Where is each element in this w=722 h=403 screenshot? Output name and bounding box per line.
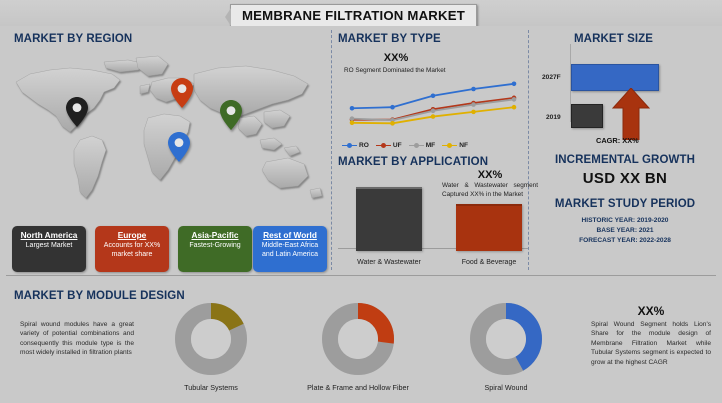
region-card-sub: Accounts for XX% market share — [95, 242, 169, 259]
legend-item-uf[interactable]: UF — [376, 142, 402, 149]
region-card-name: Europe — [95, 230, 169, 241]
application-section: MARKET BY APPLICATION XX% Water & Wastew… — [338, 156, 528, 268]
market-study-period-heading: MARKET STUDY PERIOD — [534, 198, 716, 210]
region-card-north-america[interactable]: North America Largest Market — [12, 226, 86, 272]
page-title: MEMBRANE FILTRATION MARKET — [230, 4, 477, 27]
legend-item-nf[interactable]: NF — [442, 142, 468, 149]
legend-item-ro[interactable]: RO — [342, 142, 369, 149]
market-size-label-2019: 2019 — [546, 114, 561, 121]
world-map — [8, 52, 330, 212]
region-card-name: Rest of World — [253, 230, 327, 241]
donut-plate-frame-hollow-fiber[interactable]: Plate & Frame and Hollow Fiber — [298, 302, 418, 392]
market-size-title: MARKET SIZE — [574, 33, 653, 45]
rest-of-world-pin[interactable] — [168, 132, 190, 162]
page-title-text: MEMBRANE FILTRATION MARKET — [242, 8, 465, 23]
divider-module-top — [6, 275, 716, 276]
application-bar-water-wastewater[interactable] — [356, 187, 422, 251]
body-area: MARKET BY REGION — [0, 26, 722, 403]
module-right-text: Spiral Wound Segment holds Lion's Share … — [591, 320, 711, 367]
region-card-rest-of-world[interactable]: Rest of World Middle-East Africa and Lat… — [253, 226, 327, 272]
region-card-asia-pacific[interactable]: Asia-Pacific Fastest-Growing — [178, 226, 252, 272]
market-size-section: MARKET SIZE 2027F 2019 CAGR: XX% INCREME… — [534, 30, 716, 270]
period-item-base: BASE YEAR: 2021 — [534, 226, 716, 236]
europe-pin[interactable] — [171, 78, 193, 108]
market-size-bar-2027[interactable] — [571, 64, 659, 91]
application-bar-label-water: Water & Wastewater — [334, 259, 444, 266]
cagr-label: CAGR: XX% — [596, 136, 639, 145]
legend-marker-icon — [342, 142, 357, 149]
asia-pacific-pin[interactable] — [220, 100, 242, 130]
donut-tubular-systems[interactable]: Tubular Systems — [151, 302, 271, 392]
region-card-sub: Middle-East Africa and Latin America — [253, 242, 327, 259]
type-section: MARKET BY TYPE XX% RO Segment Dominated … — [338, 30, 524, 154]
divider-right — [528, 30, 529, 270]
donut-label: Spiral Wound — [446, 383, 566, 392]
period-item-historic: HISTORIC YEAR: 2019-2020 — [534, 216, 716, 226]
divider-left — [331, 30, 332, 270]
legend-marker-icon — [409, 142, 424, 149]
module-design-section: MARKET BY MODULE DESIGN Spiral wound mod… — [6, 284, 716, 401]
donut-chart-svg — [321, 302, 395, 376]
module-section-title: MARKET BY MODULE DESIGN — [14, 290, 185, 302]
market-by-type-line-chart — [338, 32, 524, 144]
legend-label: UF — [393, 142, 402, 149]
region-card-europe[interactable]: Europe Accounts for XX% market share — [95, 226, 169, 272]
application-callout: XX% Water & Wastewater segment Captured … — [442, 169, 538, 200]
application-callout-pct: XX% — [442, 169, 538, 181]
period-item-forecast: FORECAST YEAR: 2022-2028 — [534, 236, 716, 246]
module-right-callout: XX% Spiral Wound Segment holds Lion's Sh… — [591, 304, 711, 367]
region-section-title: MARKET BY REGION — [14, 33, 132, 45]
region-card-sub: Fastest-Growing — [178, 242, 252, 251]
type-chart-legend: RO UF MF NF — [342, 142, 468, 149]
market-size-bar-2019[interactable] — [571, 104, 603, 128]
north-america-pin[interactable] — [66, 97, 88, 127]
module-note-text: Spiral wound modules have a great variet… — [20, 320, 134, 358]
infographic-page: MEMBRANE FILTRATION MARKET MARKET BY REG… — [0, 0, 722, 403]
application-section-title: MARKET BY APPLICATION — [338, 156, 488, 168]
module-right-pct: XX% — [591, 304, 711, 318]
donut-spiral-wound[interactable]: Spiral Wound — [446, 302, 566, 392]
incremental-growth-value: USD XX BN — [534, 170, 716, 187]
legend-label: RO — [359, 142, 369, 149]
application-callout-text: Water & Wastewater segment Captured XX% … — [442, 182, 538, 200]
donut-chart-svg — [174, 302, 248, 376]
cagr-arrow-icon — [612, 88, 650, 140]
donut-chart-svg — [469, 302, 543, 376]
region-card-name: Asia-Pacific — [178, 230, 252, 241]
donut-label: Plate & Frame and Hollow Fiber — [298, 383, 418, 392]
application-bar-food-beverage[interactable] — [456, 204, 522, 251]
market-size-label-2027: 2027F — [542, 74, 561, 81]
legend-marker-icon — [376, 142, 391, 149]
incremental-growth-heading: INCREMENTAL GROWTH — [534, 154, 716, 166]
region-card-name: North America — [12, 230, 86, 241]
donut-label: Tubular Systems — [151, 383, 271, 392]
legend-label: MF — [426, 142, 436, 149]
region-card-sub: Largest Market — [12, 242, 86, 251]
application-bar-label-food: Food & Beverage — [434, 259, 544, 266]
legend-label: NF — [459, 142, 468, 149]
legend-item-mf[interactable]: MF — [409, 142, 436, 149]
legend-marker-icon — [442, 142, 457, 149]
